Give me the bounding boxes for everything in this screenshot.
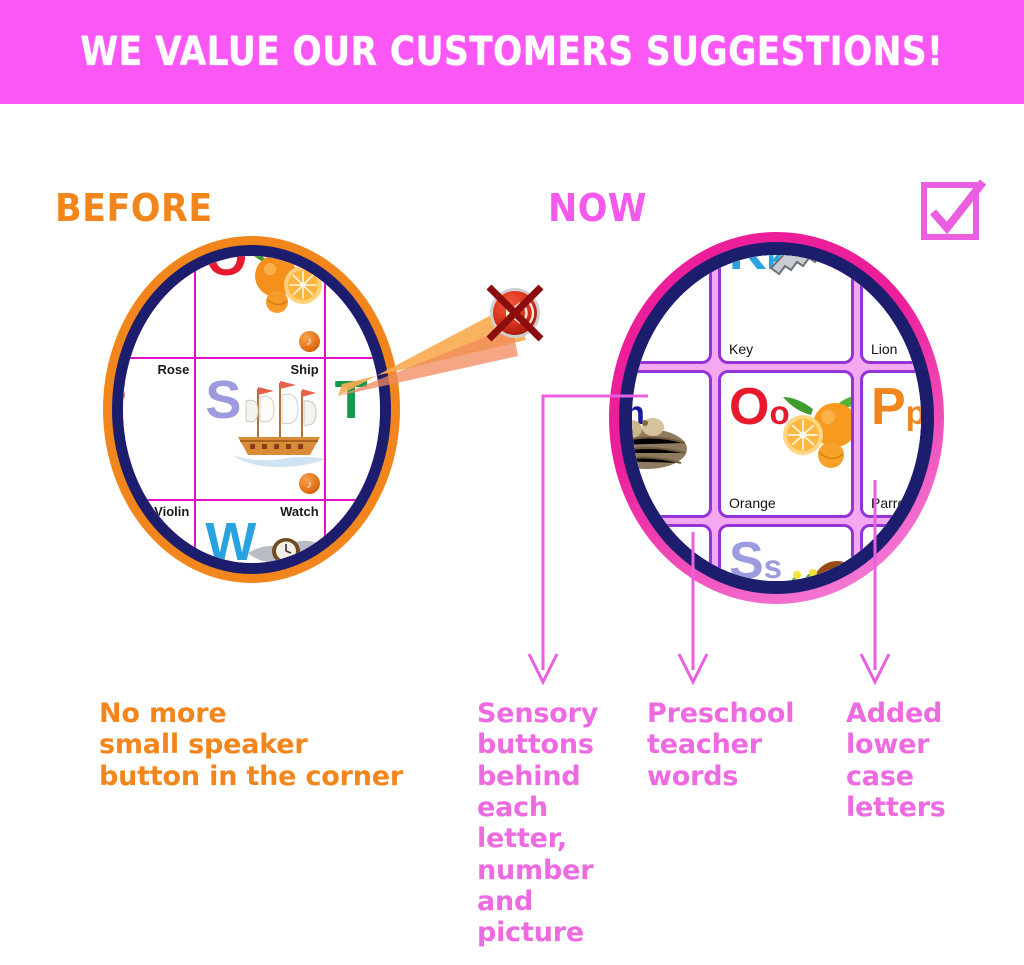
now-caption-lowercase-letters: Added lower case letters xyxy=(846,698,946,823)
arrow-sensory-buttons xyxy=(543,396,648,670)
pointer-arrows-group xyxy=(0,230,1024,700)
before-section-label: BEFORE xyxy=(55,186,213,230)
before-caption: No more small speaker button in the corn… xyxy=(99,698,403,792)
now-section-label: NOW xyxy=(548,186,647,230)
now-caption-teacher-words: Preschool teacher words xyxy=(647,698,794,792)
banner-title: WE VALUE OUR CUSTOMERS SUGGESTIONS! xyxy=(81,29,944,75)
now-caption-sensory-buttons: Sensory buttons behind each letter, numb… xyxy=(477,698,598,949)
header-banner: WE VALUE OUR CUSTOMERS SUGGESTIONS! xyxy=(0,0,1024,104)
